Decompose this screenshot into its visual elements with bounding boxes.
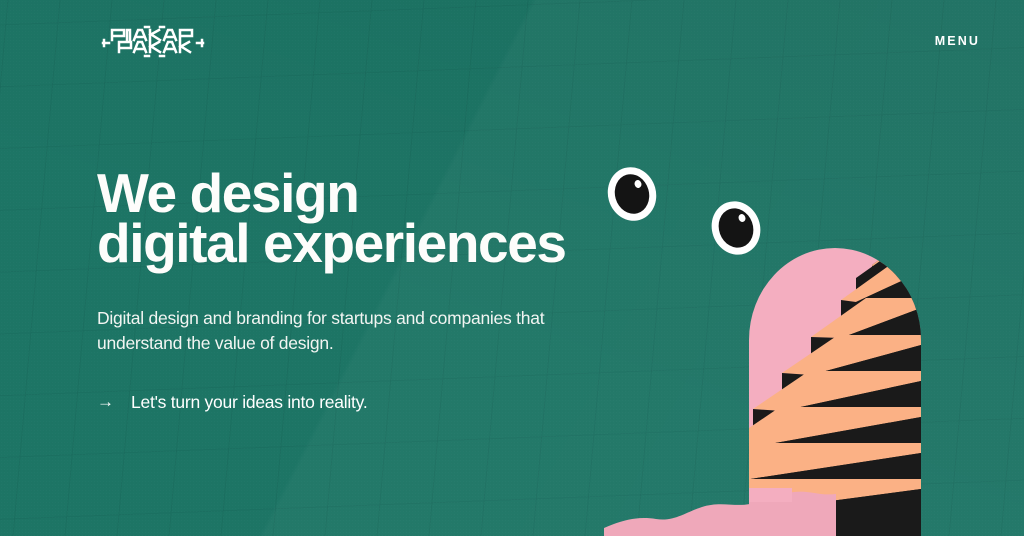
hero-subtitle-line-1: Digital design and branding for startups… (97, 306, 566, 331)
logo-home-link[interactable] (97, 23, 215, 59)
page-title-line-1: We design (97, 168, 566, 218)
menu-button[interactable]: MENU (931, 29, 984, 54)
site-header: MENU (0, 0, 1024, 82)
hero-page: MENU We design digital experiences Digit… (0, 0, 1024, 536)
hero-subtitle-line-2: understand the value of design. (97, 331, 566, 356)
cta-link[interactable]: → Let's turn your ideas into reality. (97, 394, 367, 412)
page-title: We design digital experiences (97, 168, 566, 268)
piaka-logo-icon (97, 23, 215, 59)
arrow-right-icon: → (97, 393, 114, 410)
hero-section: We design digital experiences Digital de… (97, 168, 566, 413)
page-title-line-2: digital experiences (97, 218, 566, 268)
cta-label: Let's turn your ideas into reality. (131, 394, 367, 412)
hero-subtitle: Digital design and branding for startups… (97, 306, 566, 356)
